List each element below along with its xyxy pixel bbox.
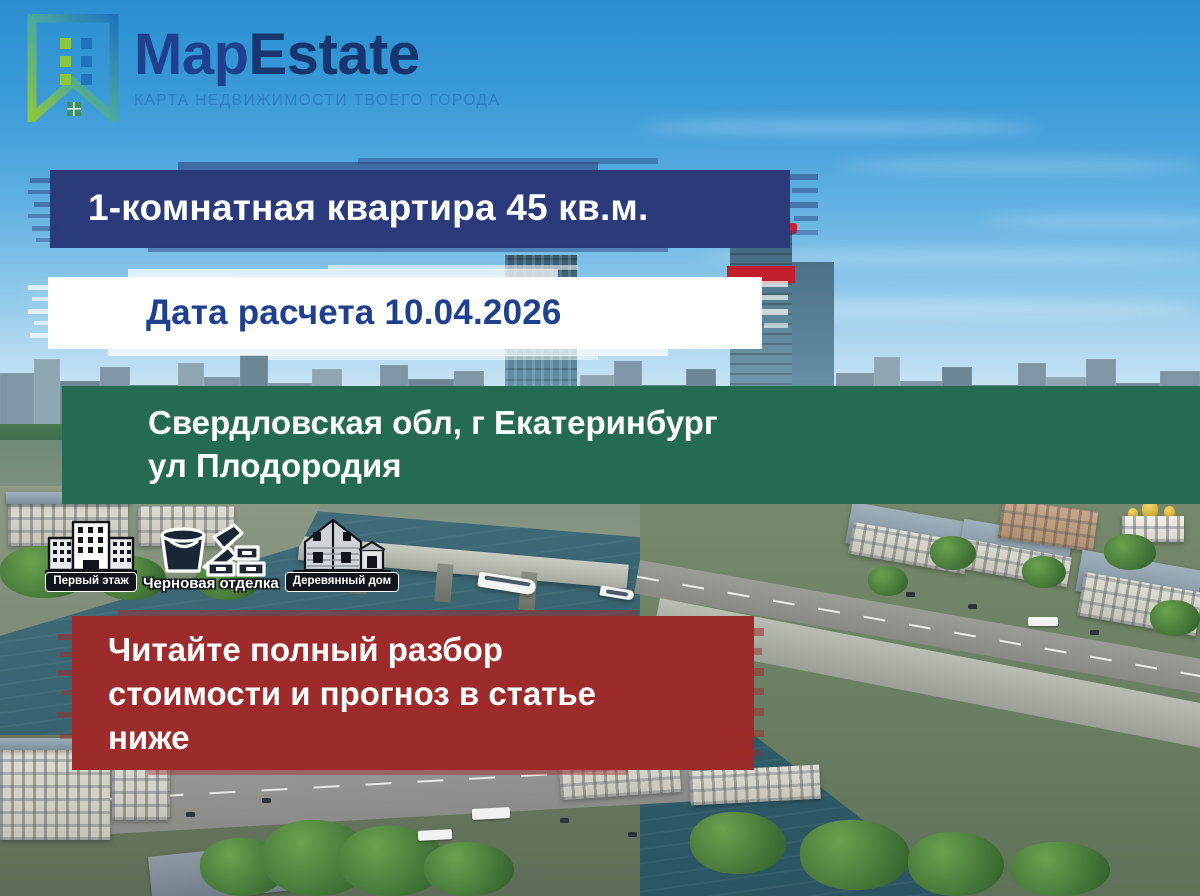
badge-label: Черновая отделка bbox=[143, 575, 279, 592]
badge-rough-finish: Черновая отделка bbox=[143, 519, 279, 592]
brand-logo[interactable]: MapEstate КАРТА НЕДВИЖИМОСТИ ТВОЕГО ГОРО… bbox=[26, 14, 500, 122]
bookmark-building-icon bbox=[26, 14, 120, 122]
badge-first-floor: Первый этаж bbox=[45, 516, 137, 592]
cta-banner-text: Читайте полный разбор стоимости и прогно… bbox=[108, 628, 596, 760]
brand-tagline: КАРТА НЕДВИЖИМОСТИ ТВОЕГО ГОРОДА bbox=[134, 92, 500, 110]
cloud bbox=[640, 120, 1040, 134]
feature-badges: Первый этаж bbox=[45, 516, 399, 592]
cta-banner: Читайте полный разбор стоимости и прогно… bbox=[58, 608, 788, 780]
apartment-banner-text: 1-комнатная квартира 45 кв.м. bbox=[88, 187, 648, 229]
brand-title-estate: Estate bbox=[249, 22, 420, 87]
date-banner-text: Дата расчета 10.04.2026 bbox=[146, 293, 562, 333]
badge-label: Первый этаж bbox=[45, 572, 136, 592]
badge-label: Деревянный дом bbox=[285, 572, 399, 592]
wooden-house-icon bbox=[293, 516, 391, 578]
brand-title-map: Map bbox=[134, 22, 249, 87]
address-banner: Свердловская обл, г Екатеринбург ул Плод… bbox=[62, 386, 1200, 504]
address-banner-text: Свердловская обл, г Екатеринбург ул Плод… bbox=[148, 402, 718, 488]
brand-title: MapEstate bbox=[134, 26, 500, 84]
apartment-banner: 1-комнатная квартира 45 кв.м. bbox=[28, 156, 818, 260]
promo-poster: MapEstate КАРТА НЕДВИЖИМОСТИ ТВОЕГО ГОРО… bbox=[0, 0, 1200, 896]
badge-wooden-house: Деревянный дом bbox=[285, 516, 399, 592]
apartment-building-icon bbox=[45, 516, 137, 578]
date-banner: Дата расчета 10.04.2026 bbox=[28, 265, 788, 361]
cloud bbox=[840, 160, 1200, 172]
paint-bucket-trowel-icon bbox=[152, 519, 270, 581]
